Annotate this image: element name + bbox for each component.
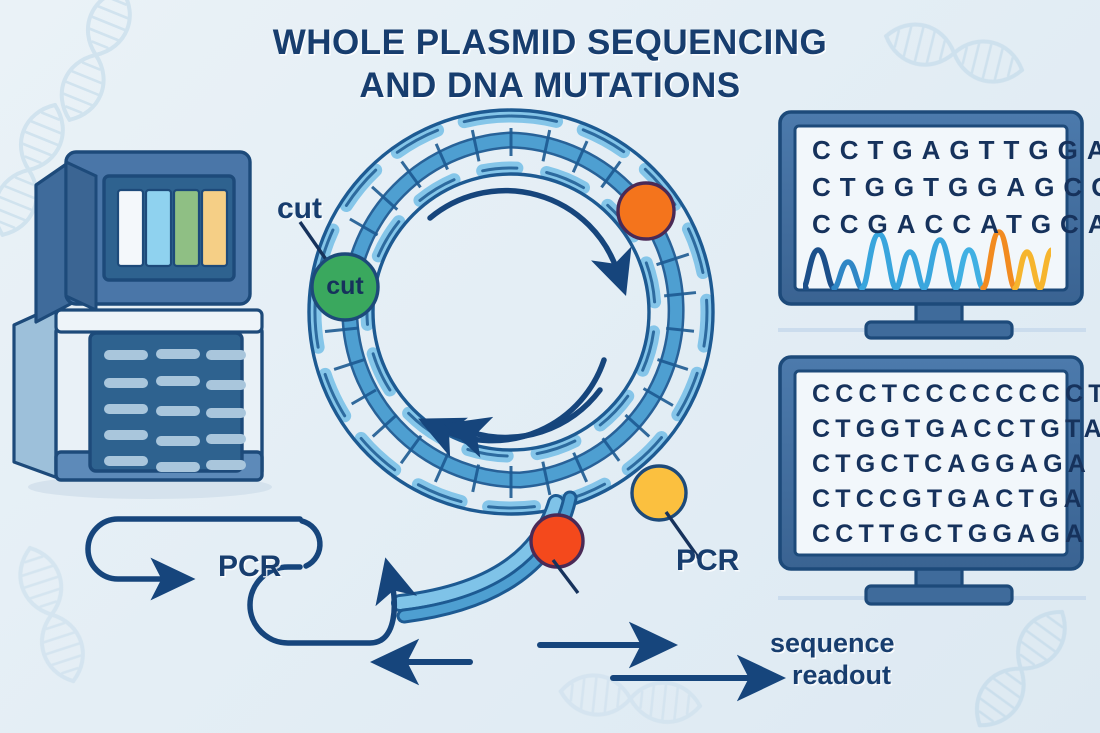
pcr-right-label: PCR [676,544,739,578]
rotation-arrow [430,191,617,441]
title-line-1: WHOLE PLASMID SEQUENCING [0,22,1100,65]
sequence-line: CCGACCATGCA [812,209,1100,240]
page-title: WHOLE PLASMID SEQUENCING AND DNA MUTATIO… [0,22,1100,107]
sequence-line: CTGGTGACCTGTA [812,415,1100,444]
readout-line-1: sequence [770,628,895,660]
marker-mutation-orange-top[interactable] [618,183,674,239]
title-line-2: AND DNA MUTATIONS [0,65,1100,108]
pcr-left-label: PCR [218,550,281,584]
sequencer-instrument [14,152,272,499]
readout-line-2: readout [792,660,895,692]
sequence-line: CCCTCCCCCCCCT [812,380,1100,409]
sequence-line: CTCCGTGACTGA [812,485,1087,514]
sequence-line: CCTGAGTTGGA [812,135,1100,166]
marker-mutation-orange-bottom[interactable] [531,515,583,567]
sequence-readout-arrows [540,645,756,678]
cut-callout-label: cut [277,192,322,226]
marker-mutation-yellow[interactable] [632,466,686,520]
cut-badge-label: cut [313,272,377,301]
sequence-line: CTGGTGGAGCG [812,172,1100,203]
illustration-canvas: WHOLE PLASMID SEQUENCING AND DNA MUTATIO… [0,0,1100,733]
sequence-line: CTGCTCAGGAGA [812,450,1091,479]
main-artwork [0,0,1100,733]
sequence-readout-label: sequence readout [770,628,895,692]
sequence-line: CCTTGCTGGAGA [812,520,1088,549]
